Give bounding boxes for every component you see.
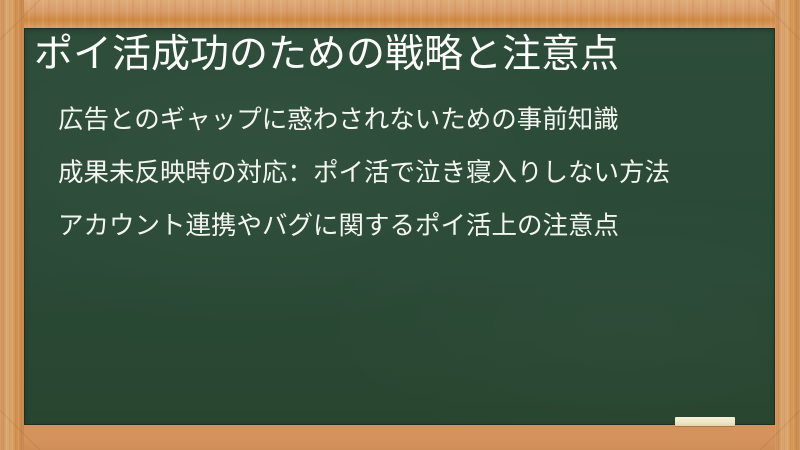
chalkboard-frame: ポイ活成功のための戦略と注意点 広告とのギャップに惑わされないための事前知識 成… xyxy=(0,0,800,450)
frame-rail-left xyxy=(0,0,24,450)
frame-rail-bottom xyxy=(0,425,800,450)
topic-list: 広告とのギャップに惑わされないための事前知識 成果未反映時の対応：ポイ活で泣き寝… xyxy=(58,102,764,261)
chalkboard-surface: ポイ活成功のための戦略と注意点 広告とのギャップに惑わされないための事前知識 成… xyxy=(24,28,775,425)
frame-rail-top xyxy=(0,0,800,28)
chalk-stick xyxy=(675,417,735,426)
chalkboard-content: ポイ活成功のための戦略と注意点 広告とのギャップに惑わされないための事前知識 成… xyxy=(24,28,775,425)
list-item: アカウント連携やバグに関するポイ活上の注意点 xyxy=(58,208,764,244)
list-item: 広告とのギャップに惑わされないための事前知識 xyxy=(58,102,764,138)
page-title: ポイ活成功のための戦略と注意点 xyxy=(34,33,764,77)
frame-rail-right xyxy=(775,0,800,450)
list-item: 成果未反映時の対応：ポイ活で泣き寝入りしない方法 xyxy=(58,155,764,191)
